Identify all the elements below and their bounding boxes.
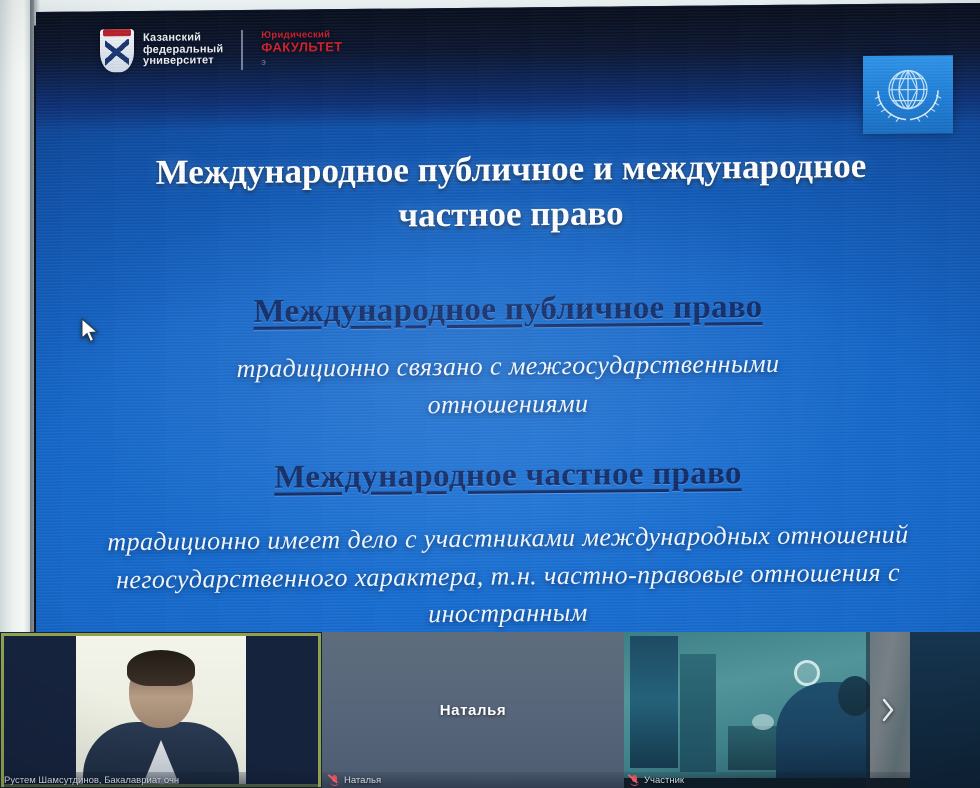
kfu-line-3: университет — [143, 56, 223, 69]
video-call-filmstrip: Рустем Шамсутдинов, Бакалавриат очн Ната… — [0, 632, 980, 788]
chevron-right-icon — [880, 697, 896, 723]
filmstrip-right-filler — [910, 632, 980, 788]
filmstrip-next-button[interactable] — [866, 632, 910, 788]
participant-2-name: Наталья — [344, 775, 381, 786]
wall-clock-icon — [794, 660, 820, 686]
room-left-wall — [0, 0, 34, 646]
mic-muted-icon — [630, 775, 639, 786]
un-emblem-icon — [863, 55, 953, 134]
slide-heading-1-text: Международное публичное право — [254, 289, 763, 330]
participant-1-name: Рустем Шамсутдинов, Бакалавриат очн — [4, 775, 179, 786]
slide-body-2: традиционно имеет дело с участниками меж… — [36, 515, 980, 637]
participant-tile-2[interactable]: Наталья Наталья — [322, 632, 624, 788]
kfu-shield-icon — [100, 29, 134, 72]
slide-body-1: традиционно связано с межгосударственным… — [36, 343, 980, 427]
faculty-sub: э — [261, 57, 342, 67]
screenshot-root: Казанский федеральный университет Юридич… — [0, 0, 980, 788]
kfu-university-name: Казанский федеральный университет — [143, 32, 223, 68]
participant-1-namebar: Рустем Шамсутдинов, Бакалавриат очн — [4, 772, 318, 788]
participant-2-display-name: Наталья — [322, 632, 624, 788]
projection-screen-slide: Казанский федеральный университет Юридич… — [36, 3, 980, 652]
mic-muted-icon — [330, 775, 339, 786]
faculty-line-2: ФАКУЛЬТЕТ — [261, 40, 342, 55]
participant-2-namebar: Наталья — [322, 772, 624, 788]
slide-heading-2-text: Международное частное право — [274, 455, 741, 495]
logo-divider — [241, 30, 243, 70]
mouse-pointer-icon — [80, 318, 100, 344]
slide-title: Международное публичное и международное … — [106, 144, 916, 241]
kfu-logo: Казанский федеральный университет Юридич… — [100, 27, 343, 72]
slide-heading-1: Международное публичное право — [36, 287, 980, 333]
participant-3-name: Участник — [644, 775, 684, 786]
kfu-faculty-name: Юридический ФАКУЛЬТЕТ э — [261, 30, 342, 68]
slide-heading-2: Международное частное право — [36, 453, 980, 499]
participant-tile-1[interactable]: Рустем Шамсутдинов, Бакалавриат очн — [0, 632, 322, 788]
active-speaker-border — [1, 633, 321, 787]
